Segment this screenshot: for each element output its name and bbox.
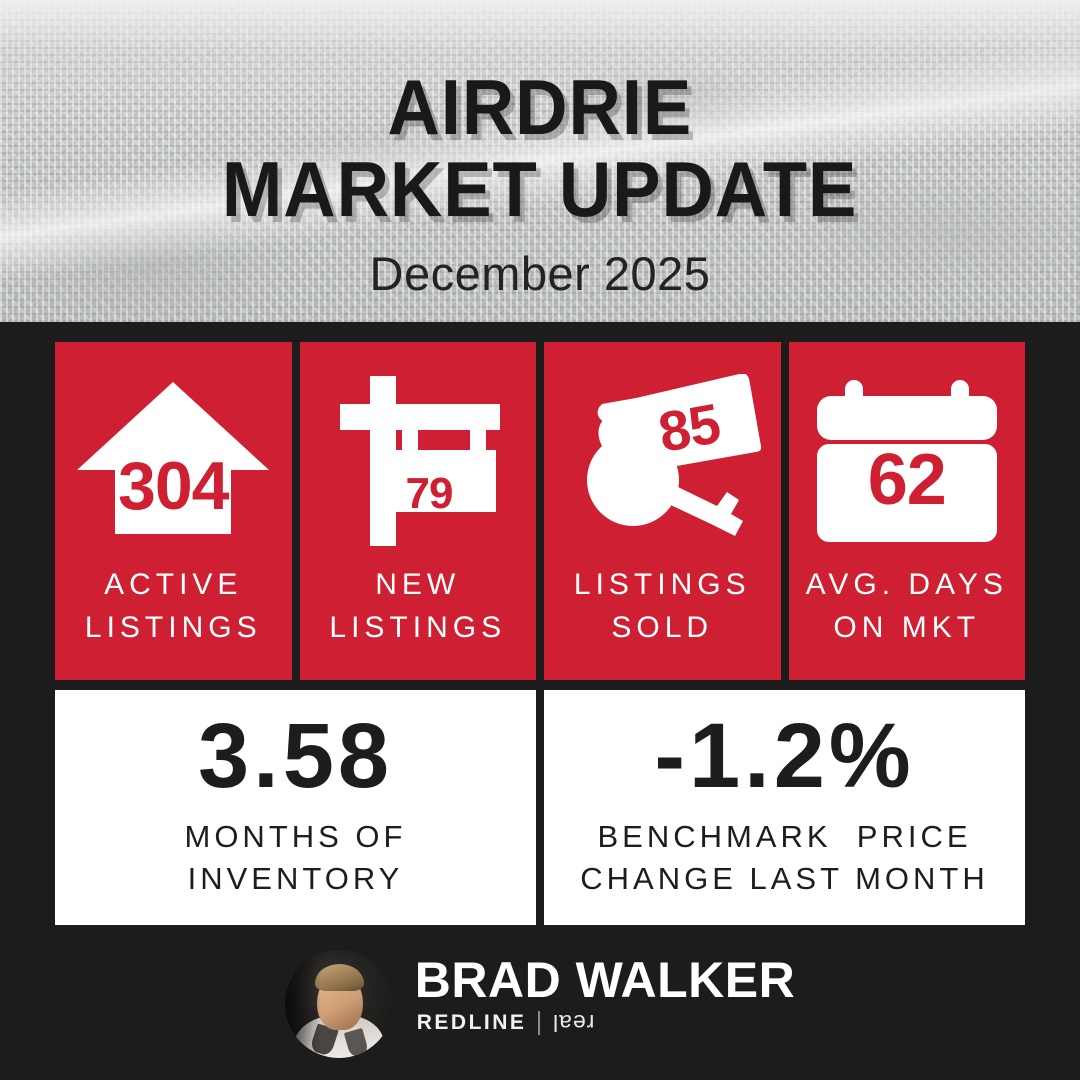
- page-title-line2: MARKET UPDATE: [222, 154, 857, 226]
- stat-value-listings-sold: 85: [655, 395, 724, 461]
- benchmark-price-change-value: -1.2%: [654, 710, 914, 802]
- stat-value-new-listings: 79: [406, 472, 453, 516]
- stat-card-listings-sold: 85 LISTINGS SOLD: [544, 342, 781, 680]
- real-logo: real: [552, 1011, 594, 1034]
- footer-branding: BRAD WALKER REDLINE real: [0, 940, 1080, 1080]
- calendar-icon: 62: [789, 368, 1026, 560]
- stat-label-avg-days-on-market: AVG. DAYS ON MKT: [806, 564, 1008, 649]
- months-of-inventory-label: MONTHS OF INVENTORY: [185, 816, 407, 899]
- agent-name: BRAD WALKER: [415, 954, 795, 1007]
- summary-panel-row: 3.58 MONTHS OF INVENTORY -1.2% BENCHMARK…: [55, 690, 1025, 925]
- stat-card-active-listings: 304 ACTIVE LISTINGS: [55, 342, 292, 680]
- stat-value-active-listings: 304: [118, 452, 228, 520]
- brand-text-block: BRAD WALKER REDLINE real: [415, 950, 795, 1035]
- stat-label-new-listings: NEW LISTINGS: [329, 564, 506, 649]
- page-subtitle: December 2025: [370, 246, 711, 301]
- brokerage-name: REDLINE: [417, 1011, 527, 1035]
- house-icon: 304: [55, 368, 292, 560]
- page-title-line1: AIRDRIE: [388, 72, 693, 144]
- stat-card-new-listings: 79 NEW LISTINGS: [300, 342, 537, 680]
- summary-panel-months-of-inventory: 3.58 MONTHS OF INVENTORY: [55, 690, 536, 925]
- lockup-divider: [538, 1011, 540, 1035]
- benchmark-price-change-label: BENCHMARK PRICE CHANGE LAST MONTH: [580, 816, 988, 899]
- stat-value-avg-days-on-market: 62: [868, 444, 946, 516]
- key-with-tag-icon: 85: [544, 368, 781, 560]
- stat-card-avg-days-on-market: 62 AVG. DAYS ON MKT: [789, 342, 1026, 680]
- header-titles: AIRDRIE MARKET UPDATE December 2025: [0, 0, 1080, 322]
- brokerage-lockup: REDLINE real: [415, 1011, 795, 1035]
- months-of-inventory-value: 3.58: [198, 710, 393, 802]
- summary-panel-benchmark-price-change: -1.2% BENCHMARK PRICE CHANGE LAST MONTH: [544, 690, 1025, 925]
- stat-label-listings-sold: LISTINGS SOLD: [574, 564, 751, 649]
- stat-label-active-listings: ACTIVE LISTINGS: [85, 564, 262, 649]
- hero-banner: AIRDRIE MARKET UPDATE December 2025: [0, 0, 1080, 322]
- stat-card-row: 304 ACTIVE LISTINGS 79 NEW LISTINGS: [55, 342, 1025, 680]
- for-sale-sign-icon: 79: [300, 368, 537, 560]
- avatar: [285, 950, 393, 1058]
